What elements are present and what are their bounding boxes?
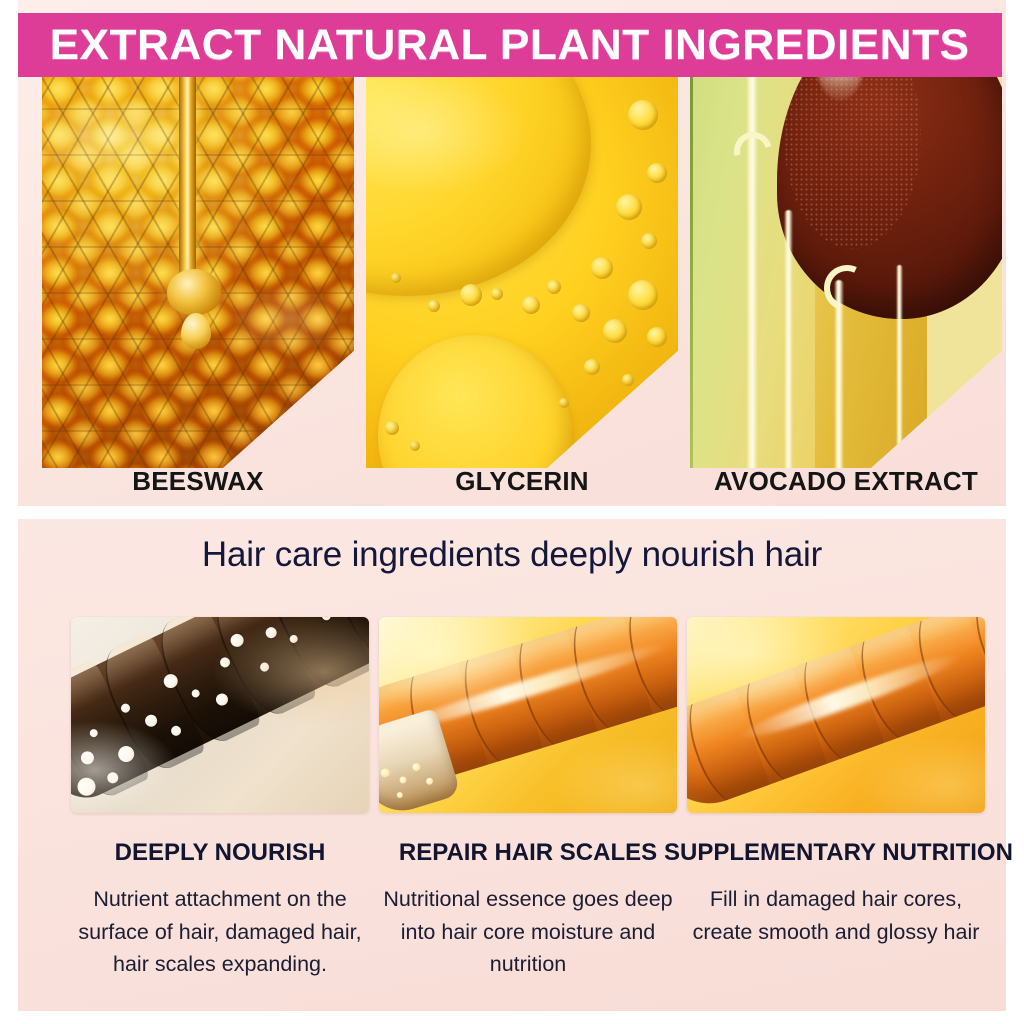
ingredient-tiles: BEESWAX — [18, 77, 1006, 506]
benefit-body-repair-hair-scales: Nutritional essence goes deep into hair … — [376, 883, 680, 981]
avocado-skin — [690, 77, 693, 468]
ingredient-label-glycerin: GLYCERIN — [366, 466, 678, 497]
benefit-title-supplementary-nutrition: SUPPLEMENTARY NUTRITION — [664, 839, 1008, 867]
golden-hair-cuticle-photo — [379, 617, 677, 813]
glossy-golden-hair-shaft-photo — [687, 617, 985, 813]
soft-light — [71, 617, 369, 813]
benefit-column-repair-hair-scales: REPAIR HAIR SCALES Nutritional essence g… — [372, 617, 684, 997]
benefit-column-deeply-nourish: DEEPLY NOURISH Nutrient attachment on th… — [64, 617, 376, 997]
avocado-half-oil-photo — [690, 77, 1002, 468]
ingredient-label-avocado: AVOCADO EXTRACT — [666, 466, 1024, 497]
ingredients-section: EXTRACT NATURAL PLANT INGREDIENTS BEESWA… — [18, 0, 1006, 506]
ingredient-tile-glycerin: GLYCERIN — [366, 77, 678, 506]
ingredient-label-beeswax: BEESWAX — [42, 466, 354, 497]
header-banner: EXTRACT NATURAL PLANT INGREDIENTS — [18, 13, 1002, 77]
yellow-oil-bubbles-photo — [366, 77, 678, 468]
ingredient-tile-beeswax: BEESWAX — [42, 77, 354, 506]
benefit-body-supplementary-nutrition: Fill in damaged hair cores, create smoot… — [684, 883, 988, 948]
benefit-body-deeply-nourish: Nutrient attachment on the surface of ha… — [68, 883, 372, 981]
benefit-title-repair-hair-scales: REPAIR HAIR SCALES — [356, 839, 700, 867]
golden-glow — [379, 617, 677, 813]
benefit-columns: DEEPLY NOURISH Nutrient attachment on th… — [18, 617, 1006, 997]
oil-sheen — [366, 77, 678, 468]
dark-hair-strand-nutrients-photo — [71, 617, 369, 813]
golden-glow — [687, 617, 985, 813]
benefit-title-deeply-nourish: DEEPLY NOURISH — [48, 839, 392, 867]
benefit-column-supplementary-nutrition: SUPPLEMENTARY NUTRITION Fill in damaged … — [680, 617, 992, 997]
oil-streak — [784, 210, 793, 468]
honeycomb-honey-photo — [42, 77, 354, 468]
honey-glare — [42, 77, 354, 468]
benefits-heading: Hair care ingredients deeply nourish hai… — [18, 535, 1006, 575]
benefits-section: Hair care ingredients deeply nourish hai… — [18, 519, 1006, 1011]
banner-title: EXTRACT NATURAL PLANT INGREDIENTS — [50, 24, 970, 67]
oil-streak — [896, 265, 903, 468]
ingredient-tile-avocado: AVOCADO EXTRACT — [690, 77, 1002, 506]
